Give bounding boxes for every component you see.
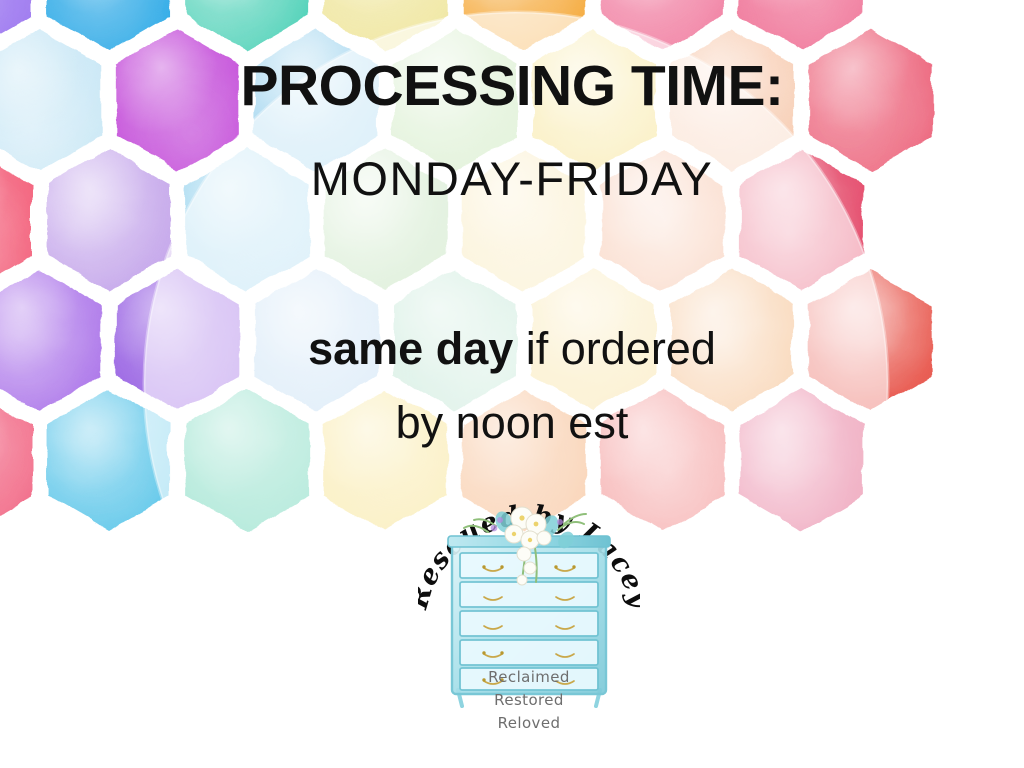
- logo-tagline-line-3: Reloved: [418, 714, 640, 732]
- logo-tagline-line-2: Restored: [418, 691, 640, 709]
- body-line-2: by noon est: [0, 400, 1024, 445]
- logo-tagline-line-1: Reclaimed: [418, 668, 640, 686]
- page-title: PROCESSING TIME:: [0, 58, 1024, 115]
- body-emphasis: same day: [308, 323, 513, 374]
- body-line-1-rest: if ordered: [513, 323, 716, 374]
- poster-canvas: PROCESSING TIME: MONDAY-FRIDAY same day …: [0, 0, 1024, 768]
- subtitle: MONDAY-FRIDAY: [0, 155, 1024, 202]
- body-line-1: same day if ordered: [0, 326, 1024, 371]
